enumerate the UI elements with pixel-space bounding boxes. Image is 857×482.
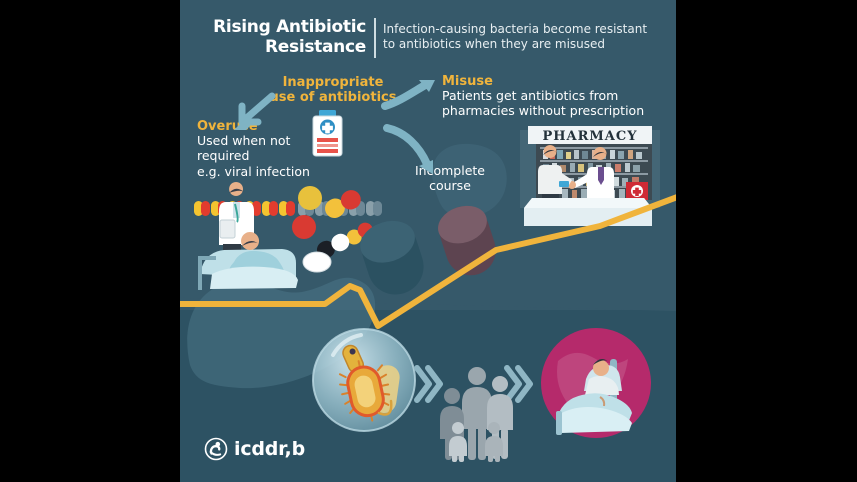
pharmacy-scene: PHARMACY: [502, 122, 668, 234]
swirl-globe-icon: [204, 437, 228, 461]
misuse-line-2: pharmacies without prescription: [442, 104, 664, 119]
poster-header: Rising Antibiotic Resistance Infection-c…: [180, 8, 676, 60]
title-line-2: Resistance: [198, 37, 366, 57]
page-subtitle: Infection-causing bacteria become resist…: [383, 22, 663, 52]
arrow-up-right-icon: [383, 78, 439, 112]
incomplete-line-2: course: [395, 178, 505, 193]
icddrb-logo: icddr,b: [204, 437, 305, 461]
inappropriate-use-label: Inappropriate use of antibiotics: [263, 75, 403, 105]
overuse-line-1: Used when not: [197, 134, 327, 149]
arrow-curve-down-icon: [383, 122, 439, 178]
letterbox-left: [0, 0, 180, 482]
logo-text: icddr,b: [234, 438, 305, 460]
misuse-heading: Misuse: [442, 74, 664, 89]
subtitle-line-2: to antibiotics when they are misused: [383, 37, 663, 52]
overuse-line-2: required: [197, 149, 327, 164]
gold-path-line: [180, 230, 676, 330]
inappropriate-line-1: Inappropriate: [263, 75, 403, 90]
screenshot-canvas: Rising Antibiotic Resistance Infection-c…: [0, 0, 857, 482]
header-divider: [374, 18, 376, 58]
subtitle-line-1: Infection-causing bacteria become resist…: [383, 22, 663, 37]
letterbox-right: [676, 0, 857, 482]
bacteria-icon: [311, 327, 417, 433]
page-title: Rising Antibiotic Resistance: [198, 17, 366, 57]
pharmacy-sign-text: PHARMACY: [542, 129, 637, 144]
patient-in-bed-icon: [540, 327, 652, 439]
infographic-poster: Rising Antibiotic Resistance Infection-c…: [180, 0, 676, 482]
family-group-icon: [432, 366, 520, 462]
arrow-down-left-icon: [226, 92, 278, 136]
misuse-label: Misuse Patients get antibiotics from pha…: [442, 74, 664, 118]
viral-infection-label: e.g. viral infection: [197, 165, 347, 180]
title-line-1: Rising Antibiotic: [198, 17, 366, 37]
misuse-line-1: Patients get antibiotics from: [442, 89, 664, 104]
medicine-bottle-icon: [310, 110, 346, 166]
inappropriate-line-2: use of antibiotics: [263, 90, 403, 105]
